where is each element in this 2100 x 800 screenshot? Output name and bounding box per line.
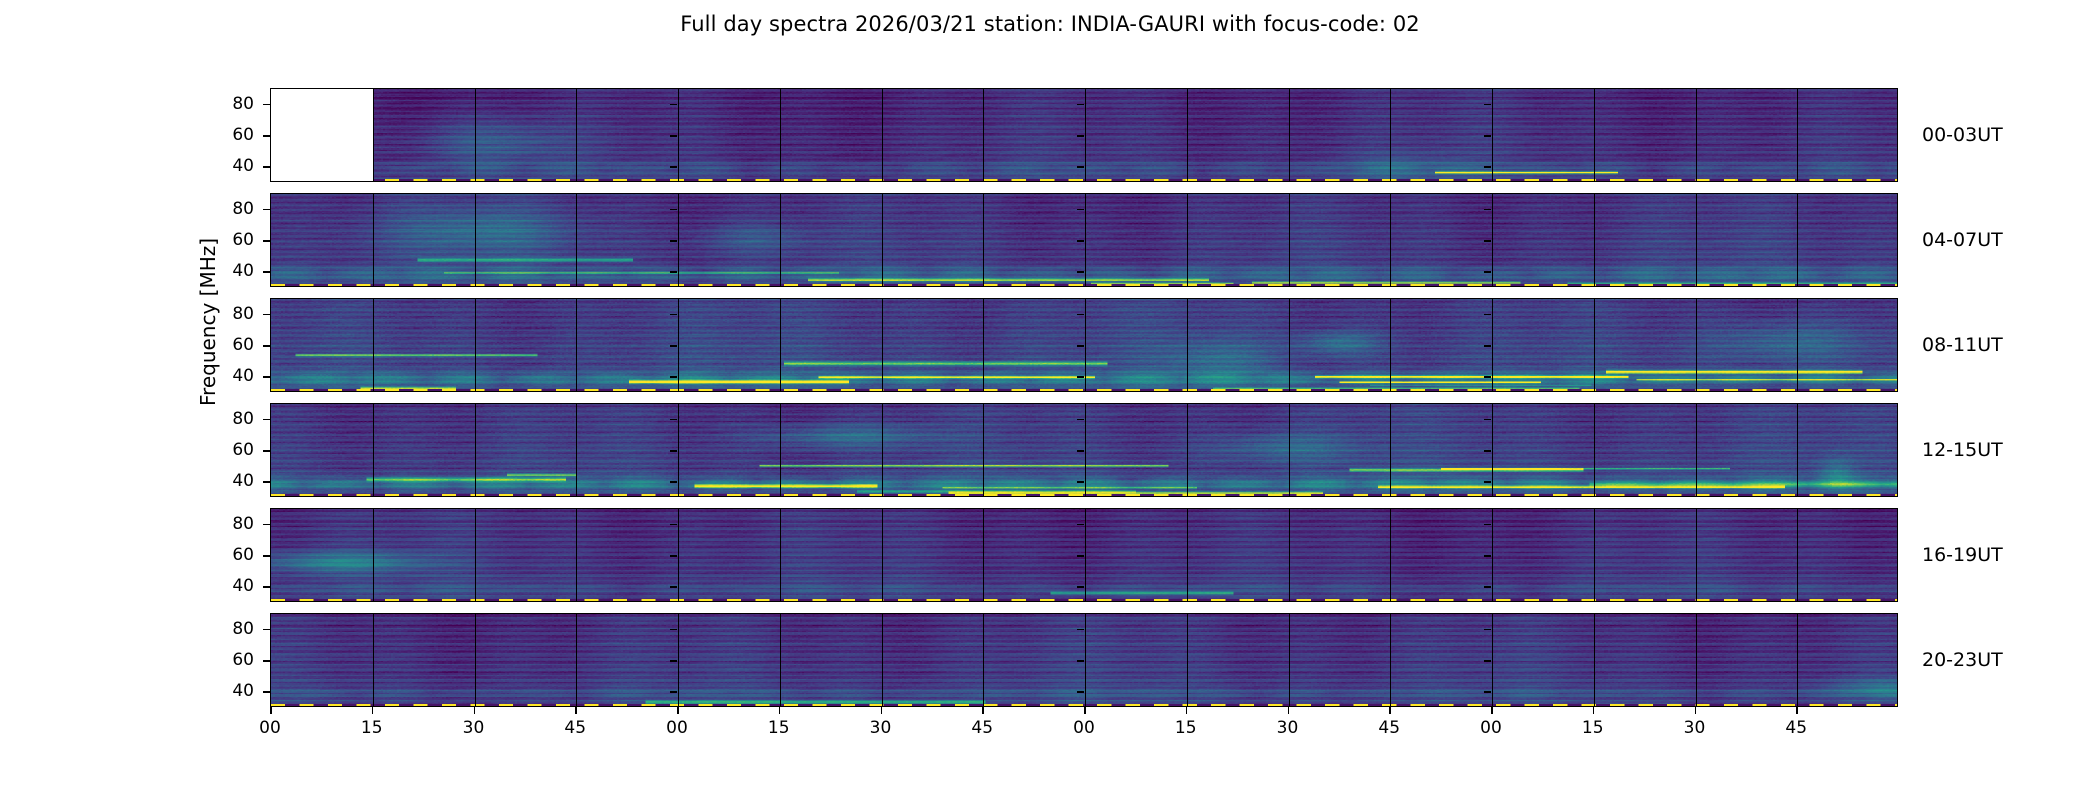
panel-gridline (1696, 404, 1697, 496)
interior-tick-mark (1077, 586, 1084, 588)
interior-tick-mark (1484, 586, 1491, 588)
panel-gridline (1289, 404, 1290, 496)
x-tick-mark (1288, 707, 1290, 714)
panel-gridline (678, 299, 679, 391)
panel-gridline (678, 89, 679, 181)
interior-tick-mark (1077, 240, 1084, 242)
panel-gridline (1797, 404, 1798, 496)
panel-gridline (1492, 509, 1493, 601)
panel-time-label-00-03ut: 00-03UT (1922, 124, 2003, 146)
y-tick-mark (263, 691, 270, 693)
panel-gridline (1187, 89, 1188, 181)
no-data-region (271, 89, 373, 181)
x-tick-label: 30 (1277, 718, 1299, 738)
y-tick-mark (263, 345, 270, 347)
panel-gridline (780, 509, 781, 601)
interior-tick-mark (1077, 209, 1084, 211)
x-tick-mark (372, 707, 374, 714)
panel-gridline (678, 614, 679, 706)
interior-tick-mark (670, 450, 677, 452)
panel-gridline (983, 404, 984, 496)
y-tick-label: 60 (208, 545, 254, 565)
x-tick-mark (1796, 707, 1798, 714)
x-tick-mark (982, 707, 984, 714)
y-tick-label: 40 (208, 681, 254, 701)
y-tick-label: 60 (208, 650, 254, 670)
interior-tick-mark (1484, 450, 1491, 452)
panel-gridline (475, 299, 476, 391)
y-tick-label: 40 (208, 366, 254, 386)
interior-tick-mark (670, 691, 677, 693)
interior-tick-mark (1484, 314, 1491, 316)
panel-gridline (1696, 614, 1697, 706)
panel-gridline (882, 404, 883, 496)
interior-tick-mark (1484, 240, 1491, 242)
interior-tick-mark (1077, 524, 1084, 526)
x-tick-mark (474, 707, 476, 714)
panel-gridline (780, 614, 781, 706)
interior-tick-mark (670, 586, 677, 588)
panel-gridline (373, 509, 374, 601)
panel-gridline (1390, 404, 1391, 496)
panel-gridline (882, 299, 883, 391)
panel-gridline (983, 194, 984, 286)
y-tick-label: 80 (208, 304, 254, 324)
spectrogram-panel-20-23ut (270, 613, 1898, 707)
x-tick-mark (779, 707, 781, 714)
panel-gridline (1696, 509, 1697, 601)
panel-time-label-08-11ut: 08-11UT (1922, 334, 2003, 356)
panel-gridline (1187, 509, 1188, 601)
panel-gridline (1797, 194, 1798, 286)
x-tick-label: 15 (361, 718, 383, 738)
panel-gridline (1390, 89, 1391, 181)
x-tick-label: 15 (1582, 718, 1604, 738)
y-tick-mark (263, 481, 270, 483)
interior-tick-mark (670, 104, 677, 106)
interior-tick-mark (670, 660, 677, 662)
x-tick-label: 00 (1073, 718, 1095, 738)
panel-time-label-12-15ut: 12-15UT (1922, 439, 2003, 461)
panel-gridline (882, 509, 883, 601)
panel-gridline (373, 614, 374, 706)
panel-gridline (780, 299, 781, 391)
panel-gridline (1289, 89, 1290, 181)
panel-gridline (475, 89, 476, 181)
spectrogram-panel-04-07ut (270, 193, 1898, 287)
y-tick-mark (263, 314, 270, 316)
panel-gridline (1797, 299, 1798, 391)
panel-gridline (1390, 194, 1391, 286)
panel-gridline (983, 614, 984, 706)
spectrogram-panel-16-19ut (270, 508, 1898, 602)
panel-time-label-04-07ut: 04-07UT (1922, 229, 2003, 251)
panel-gridline (1187, 299, 1188, 391)
spectrogram-figure: Full day spectra 2026/03/21 station: IND… (0, 0, 2100, 800)
panel-gridline (373, 404, 374, 496)
panel-gridline (983, 89, 984, 181)
interior-tick-mark (1484, 555, 1491, 557)
panel-gridline (1289, 299, 1290, 391)
x-tick-mark (1491, 707, 1493, 714)
interior-tick-mark (670, 481, 677, 483)
panel-gridline (882, 89, 883, 181)
interior-tick-mark (1077, 166, 1084, 168)
interior-tick-mark (670, 209, 677, 211)
panel-gridline (1696, 194, 1697, 286)
panel-gridline (1492, 89, 1493, 181)
panel-gridline (373, 299, 374, 391)
interior-tick-mark (1484, 524, 1491, 526)
y-tick-label: 60 (208, 335, 254, 355)
panel-gridline (1085, 89, 1086, 181)
panel-gridline (780, 89, 781, 181)
y-tick-mark (263, 524, 270, 526)
panel-gridline (576, 404, 577, 496)
interior-tick-mark (1484, 271, 1491, 273)
panel-gridline (1187, 404, 1188, 496)
panel-gridline (1492, 404, 1493, 496)
x-tick-label: 15 (1175, 718, 1197, 738)
panel-gridline (576, 509, 577, 601)
x-tick-mark (1593, 707, 1595, 714)
interior-tick-mark (670, 240, 677, 242)
panel-gridline (1594, 194, 1595, 286)
interior-tick-mark (1077, 419, 1084, 421)
y-tick-label: 40 (208, 576, 254, 596)
interior-tick-mark (1077, 135, 1084, 137)
x-tick-mark (270, 707, 272, 714)
panel-gridline (983, 299, 984, 391)
panel-gridline (1085, 194, 1086, 286)
panel-gridline (678, 404, 679, 496)
panel-gridline (1390, 299, 1391, 391)
panel-gridline (1797, 509, 1798, 601)
interior-tick-mark (1077, 104, 1084, 106)
y-tick-label: 80 (208, 514, 254, 534)
panel-gridline (1085, 614, 1086, 706)
x-tick-label: 45 (971, 718, 993, 738)
y-tick-label: 80 (208, 409, 254, 429)
interior-tick-mark (670, 555, 677, 557)
y-tick-mark (263, 240, 270, 242)
panel-gridline (1289, 194, 1290, 286)
interior-tick-mark (1484, 376, 1491, 378)
y-tick-label: 60 (208, 125, 254, 145)
panel-gridline (1187, 194, 1188, 286)
interior-tick-mark (670, 345, 677, 347)
panel-gridline (1085, 509, 1086, 601)
y-tick-mark (263, 419, 270, 421)
y-tick-mark (263, 586, 270, 588)
x-tick-mark (881, 707, 883, 714)
interior-tick-mark (1484, 419, 1491, 421)
panel-gridline (475, 194, 476, 286)
y-tick-mark (263, 271, 270, 273)
panel-gridline (780, 194, 781, 286)
y-tick-label: 80 (208, 94, 254, 114)
panel-gridline (1492, 299, 1493, 391)
interior-tick-mark (1484, 135, 1491, 137)
y-tick-label: 40 (208, 261, 254, 281)
interior-tick-mark (670, 314, 677, 316)
interior-tick-mark (1484, 691, 1491, 693)
interior-tick-mark (1077, 376, 1084, 378)
x-tick-label: 45 (1378, 718, 1400, 738)
y-tick-label: 80 (208, 619, 254, 639)
y-tick-label: 40 (208, 471, 254, 491)
interior-tick-mark (670, 166, 677, 168)
x-tick-label: 30 (463, 718, 485, 738)
y-tick-label: 40 (208, 156, 254, 176)
interior-tick-mark (1077, 555, 1084, 557)
panel-gridline (1289, 614, 1290, 706)
interior-tick-mark (1484, 209, 1491, 211)
x-tick-label: 00 (259, 718, 281, 738)
x-tick-mark (1186, 707, 1188, 714)
panel-gridline (678, 509, 679, 601)
interior-tick-mark (1484, 345, 1491, 347)
interior-tick-mark (1077, 345, 1084, 347)
panel-gridline (1187, 614, 1188, 706)
panel-gridline (1492, 194, 1493, 286)
interior-tick-mark (1077, 450, 1084, 452)
y-tick-mark (263, 376, 270, 378)
x-tick-label: 45 (564, 718, 586, 738)
interior-tick-mark (1077, 481, 1084, 483)
y-tick-mark (263, 555, 270, 557)
x-tick-label: 30 (1684, 718, 1706, 738)
interior-tick-mark (1077, 271, 1084, 273)
x-tick-label: 30 (870, 718, 892, 738)
panel-gridline (780, 404, 781, 496)
y-tick-mark (263, 629, 270, 631)
interior-tick-mark (1484, 166, 1491, 168)
panel-gridline (1085, 299, 1086, 391)
y-tick-label: 60 (208, 230, 254, 250)
panel-gridline (1594, 509, 1595, 601)
interior-tick-mark (670, 135, 677, 137)
interior-tick-mark (670, 629, 677, 631)
interior-tick-mark (1484, 481, 1491, 483)
interior-tick-mark (1077, 629, 1084, 631)
panel-gridline (576, 89, 577, 181)
panel-gridline (1797, 89, 1798, 181)
interior-tick-mark (1077, 660, 1084, 662)
panel-gridline (373, 194, 374, 286)
panel-gridline (373, 89, 374, 181)
panel-time-label-20-23ut: 20-23UT (1922, 649, 2003, 671)
interior-tick-mark (1077, 314, 1084, 316)
x-tick-label: 00 (666, 718, 688, 738)
panel-gridline (882, 194, 883, 286)
panel-gridline (1390, 509, 1391, 601)
panel-gridline (1696, 89, 1697, 181)
interior-tick-mark (670, 524, 677, 526)
interior-tick-mark (1484, 629, 1491, 631)
figure-title: Full day spectra 2026/03/21 station: IND… (0, 12, 2100, 36)
panel-gridline (678, 194, 679, 286)
interior-tick-mark (670, 271, 677, 273)
spectrogram-panel-12-15ut (270, 403, 1898, 497)
panel-time-label-16-19ut: 16-19UT (1922, 544, 2003, 566)
y-tick-mark (263, 450, 270, 452)
y-tick-mark (263, 209, 270, 211)
panel-gridline (576, 299, 577, 391)
panel-gridline (1797, 614, 1798, 706)
panel-gridline (1594, 404, 1595, 496)
panel-gridline (1085, 404, 1086, 496)
y-tick-label: 80 (208, 199, 254, 219)
x-tick-mark (677, 707, 679, 714)
y-tick-label: 60 (208, 440, 254, 460)
panel-gridline (576, 614, 577, 706)
panel-gridline (576, 194, 577, 286)
panel-gridline (882, 614, 883, 706)
x-tick-mark (575, 707, 577, 714)
panel-gridline (983, 509, 984, 601)
y-tick-mark (263, 660, 270, 662)
interior-tick-mark (1077, 691, 1084, 693)
x-tick-mark (1084, 707, 1086, 714)
x-tick-label: 15 (768, 718, 790, 738)
panel-gridline (1696, 299, 1697, 391)
interior-tick-mark (1484, 104, 1491, 106)
interior-tick-mark (1484, 660, 1491, 662)
panel-gridline (1594, 614, 1595, 706)
interior-tick-mark (670, 419, 677, 421)
panel-gridline (475, 404, 476, 496)
x-tick-mark (1389, 707, 1391, 714)
panel-gridline (1594, 299, 1595, 391)
y-tick-mark (263, 166, 270, 168)
panel-gridline (1289, 509, 1290, 601)
panel-gridline (1594, 89, 1595, 181)
panel-gridline (475, 614, 476, 706)
x-tick-mark (1695, 707, 1697, 714)
y-tick-mark (263, 135, 270, 137)
panel-gridline (1492, 614, 1493, 706)
interior-tick-mark (670, 376, 677, 378)
panel-gridline (1390, 614, 1391, 706)
spectrogram-panel-00-03ut (270, 88, 1898, 182)
y-tick-mark (263, 104, 270, 106)
x-tick-label: 00 (1480, 718, 1502, 738)
panel-gridline (475, 509, 476, 601)
x-tick-label: 45 (1785, 718, 1807, 738)
spectrogram-panel-08-11ut (270, 298, 1898, 392)
